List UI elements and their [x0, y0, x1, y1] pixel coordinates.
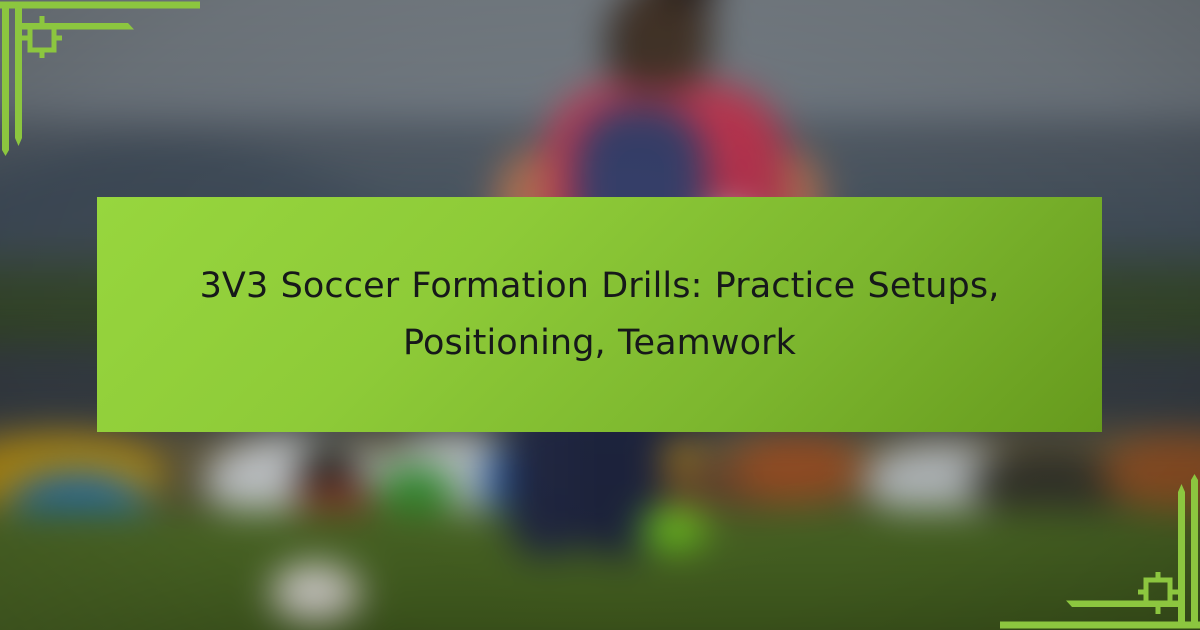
player-shoe	[640, 510, 706, 548]
page-title: 3V3 Soccer Formation Drills: Practice Se…	[155, 258, 1044, 371]
crowd-blob	[732, 435, 864, 503]
player-head	[620, 0, 712, 90]
soccer-ball	[270, 563, 362, 623]
grass-highlight	[0, 510, 534, 630]
share-card-canvas: 3V3 Soccer Formation Drills: Practice Se…	[0, 0, 1200, 630]
title-banner: 3V3 Soccer Formation Drills: Practice Se…	[97, 197, 1102, 432]
crowd-blob	[970, 450, 1128, 518]
